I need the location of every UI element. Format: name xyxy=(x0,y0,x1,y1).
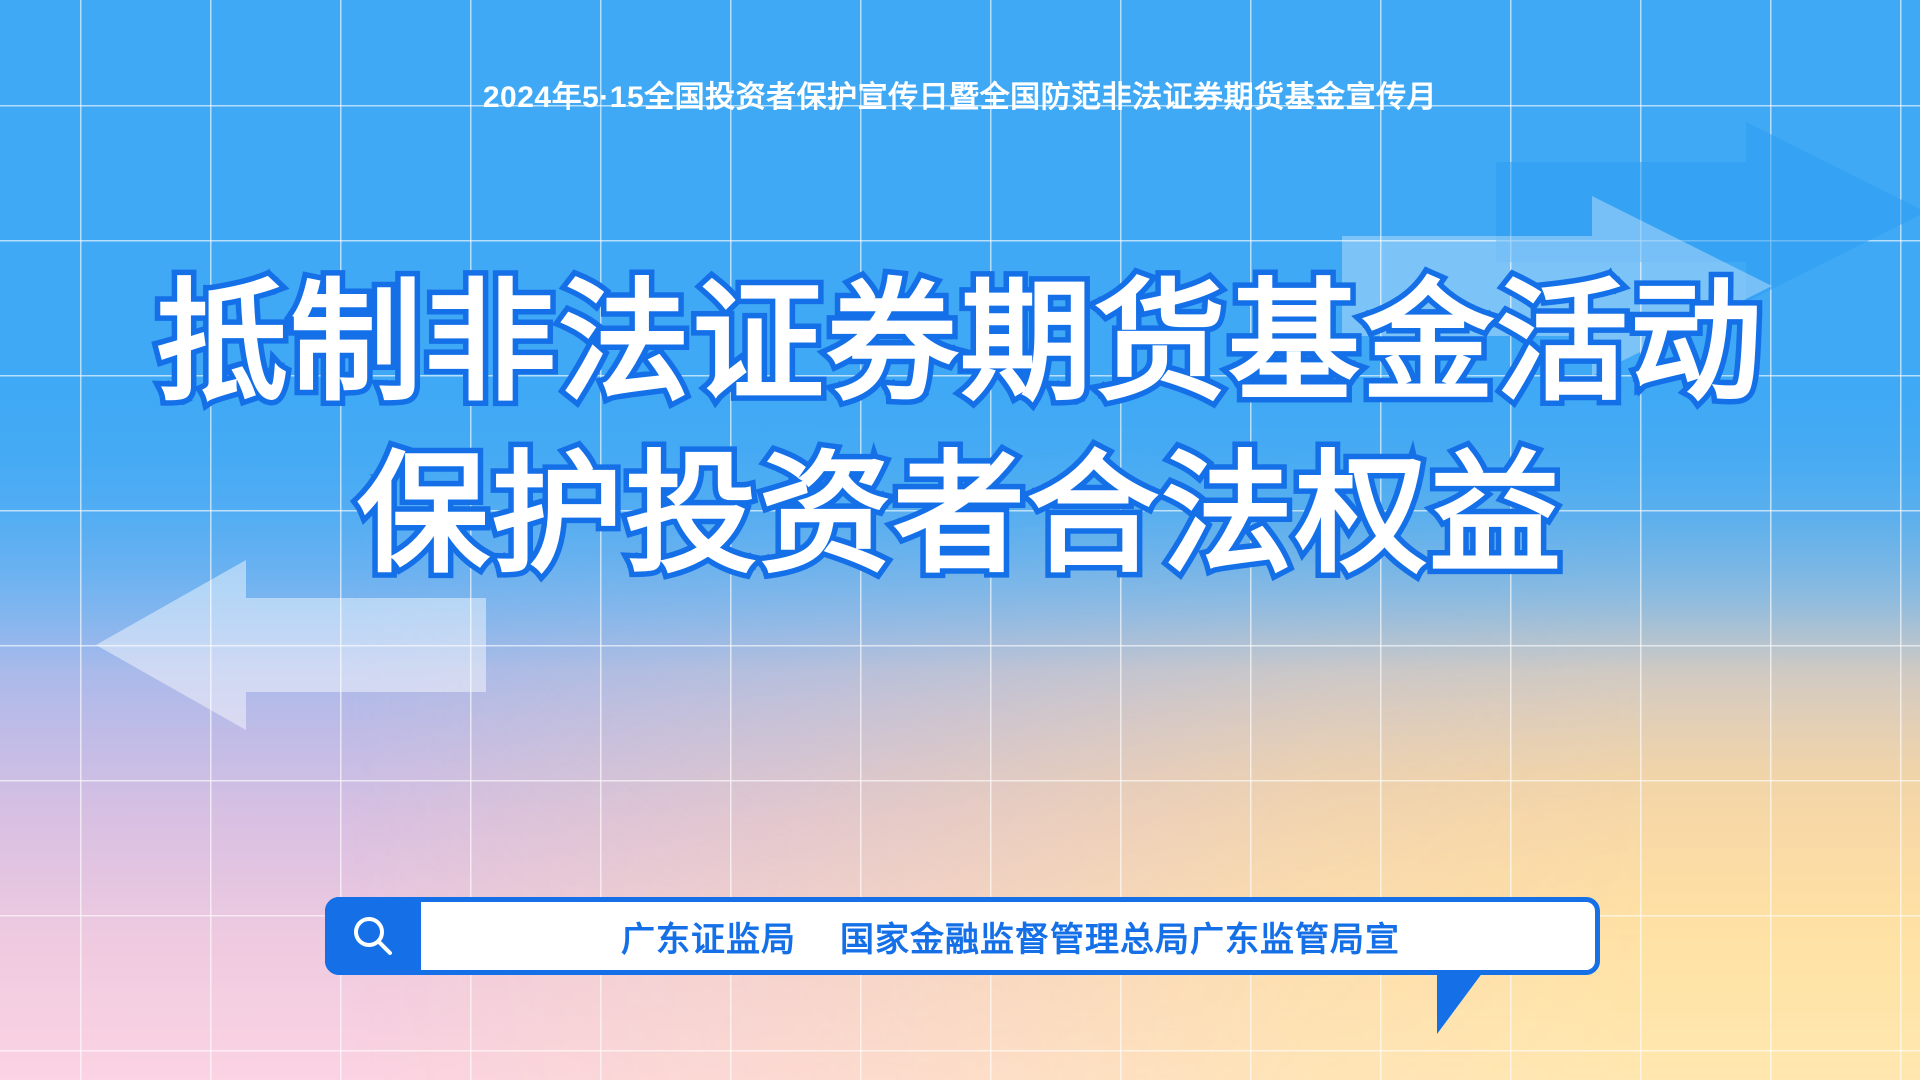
promo-banner: 2024年5·15全国投资者保护宣传日暨全国防范非法证券期货基金宣传月 抵制非法… xyxy=(0,0,1920,1080)
footer-org-text: 广东证监局国家金融监督管理总局广东监管局宣 xyxy=(426,912,1595,961)
footer-org-secondary: 国家金融监督管理总局广东监管局宣 xyxy=(840,921,1400,959)
title-line-1: 抵制非法证券期货基金活动 xyxy=(0,268,1920,418)
title-line-2: 保护投资者合法权益 xyxy=(0,440,1920,590)
footer-bar: 广东证监局国家金融监督管理总局广东监管局宣 xyxy=(325,897,1600,975)
event-header-text: 2024年5·15全国投资者保护宣传日暨全国防范非法证券期货基金宣传月 xyxy=(0,72,1920,116)
footer-org-primary: 广东证监局 xyxy=(621,921,796,959)
main-title: 抵制非法证券期货基金活动 保护投资者合法权益 xyxy=(0,268,1920,590)
search-icon-chip xyxy=(325,897,421,975)
speech-bubble-tail xyxy=(1437,972,1483,1034)
search-icon xyxy=(349,912,397,960)
